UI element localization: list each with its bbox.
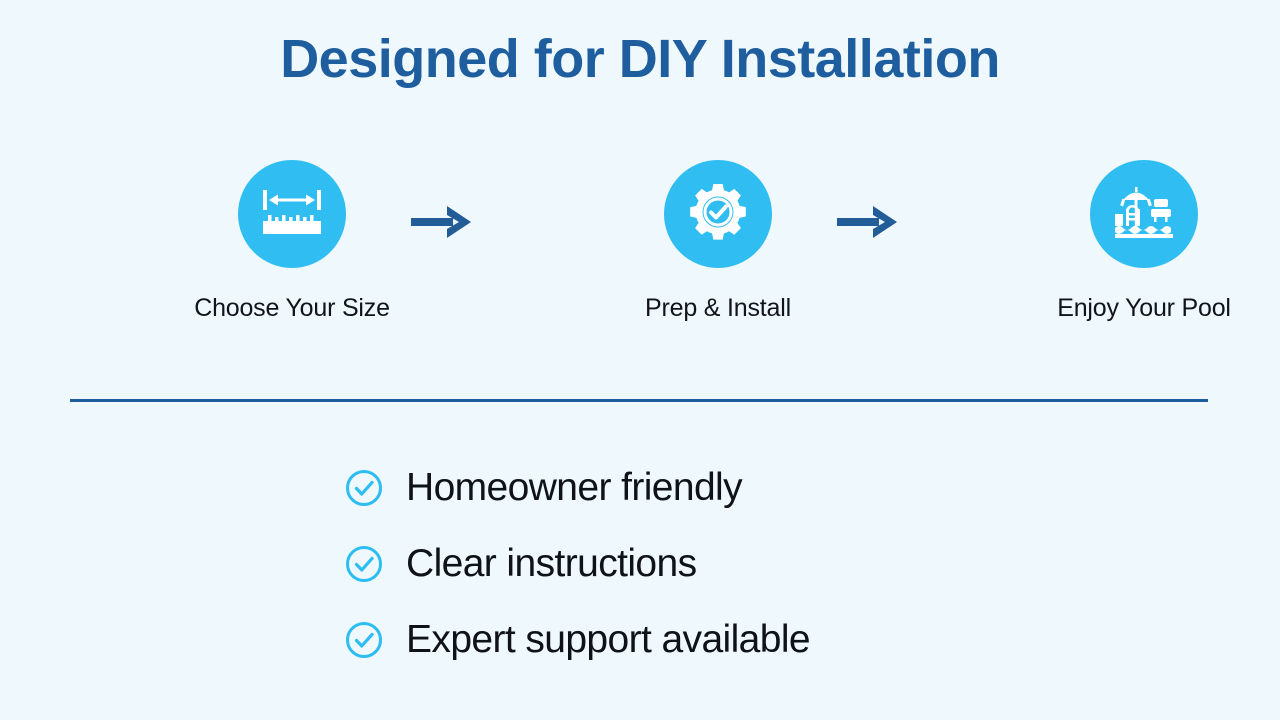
- benefit-item-1: Homeowner friendly: [344, 450, 1044, 526]
- pool-umbrella-icon: [1113, 183, 1175, 246]
- step-2-icon-circle: [664, 160, 772, 268]
- step-3-icon-circle: [1090, 160, 1198, 268]
- benefit-item-2: Clear instructions: [344, 526, 1044, 602]
- check-circle-icon-1: [344, 468, 384, 508]
- arrow-right-icon-2: [833, 200, 903, 244]
- step-1-label: Choose Your Size: [162, 294, 422, 323]
- steps-row: Choose Your Size Prep & Install: [70, 160, 1210, 340]
- benefit-label-3: Expert support available: [406, 618, 810, 662]
- step-1-icon-circle: [238, 160, 346, 268]
- check-circle-icon-2: [344, 544, 384, 584]
- step-3-label: Enjoy Your Pool: [1014, 294, 1274, 323]
- ruler-measure-icon: [261, 188, 323, 241]
- step-enjoy-your-pool[interactable]: Enjoy Your Pool: [1014, 160, 1274, 323]
- page-title: Designed for DIY Installation: [0, 28, 1280, 90]
- benefit-label-2: Clear instructions: [406, 542, 696, 586]
- check-circle-icon-3: [344, 620, 384, 660]
- step-choose-your-size[interactable]: Choose Your Size: [162, 160, 422, 323]
- benefits-list: Homeowner friendly Clear instructions Ex…: [344, 450, 1044, 678]
- benefit-label-1: Homeowner friendly: [406, 466, 742, 510]
- benefit-item-3: Expert support available: [344, 602, 1044, 678]
- step-prep-and-install[interactable]: Prep & Install: [588, 160, 848, 323]
- gear-check-icon: [688, 182, 748, 247]
- step-2-label: Prep & Install: [588, 294, 848, 323]
- arrow-right-icon-1: [407, 200, 477, 244]
- section-divider: [70, 399, 1208, 402]
